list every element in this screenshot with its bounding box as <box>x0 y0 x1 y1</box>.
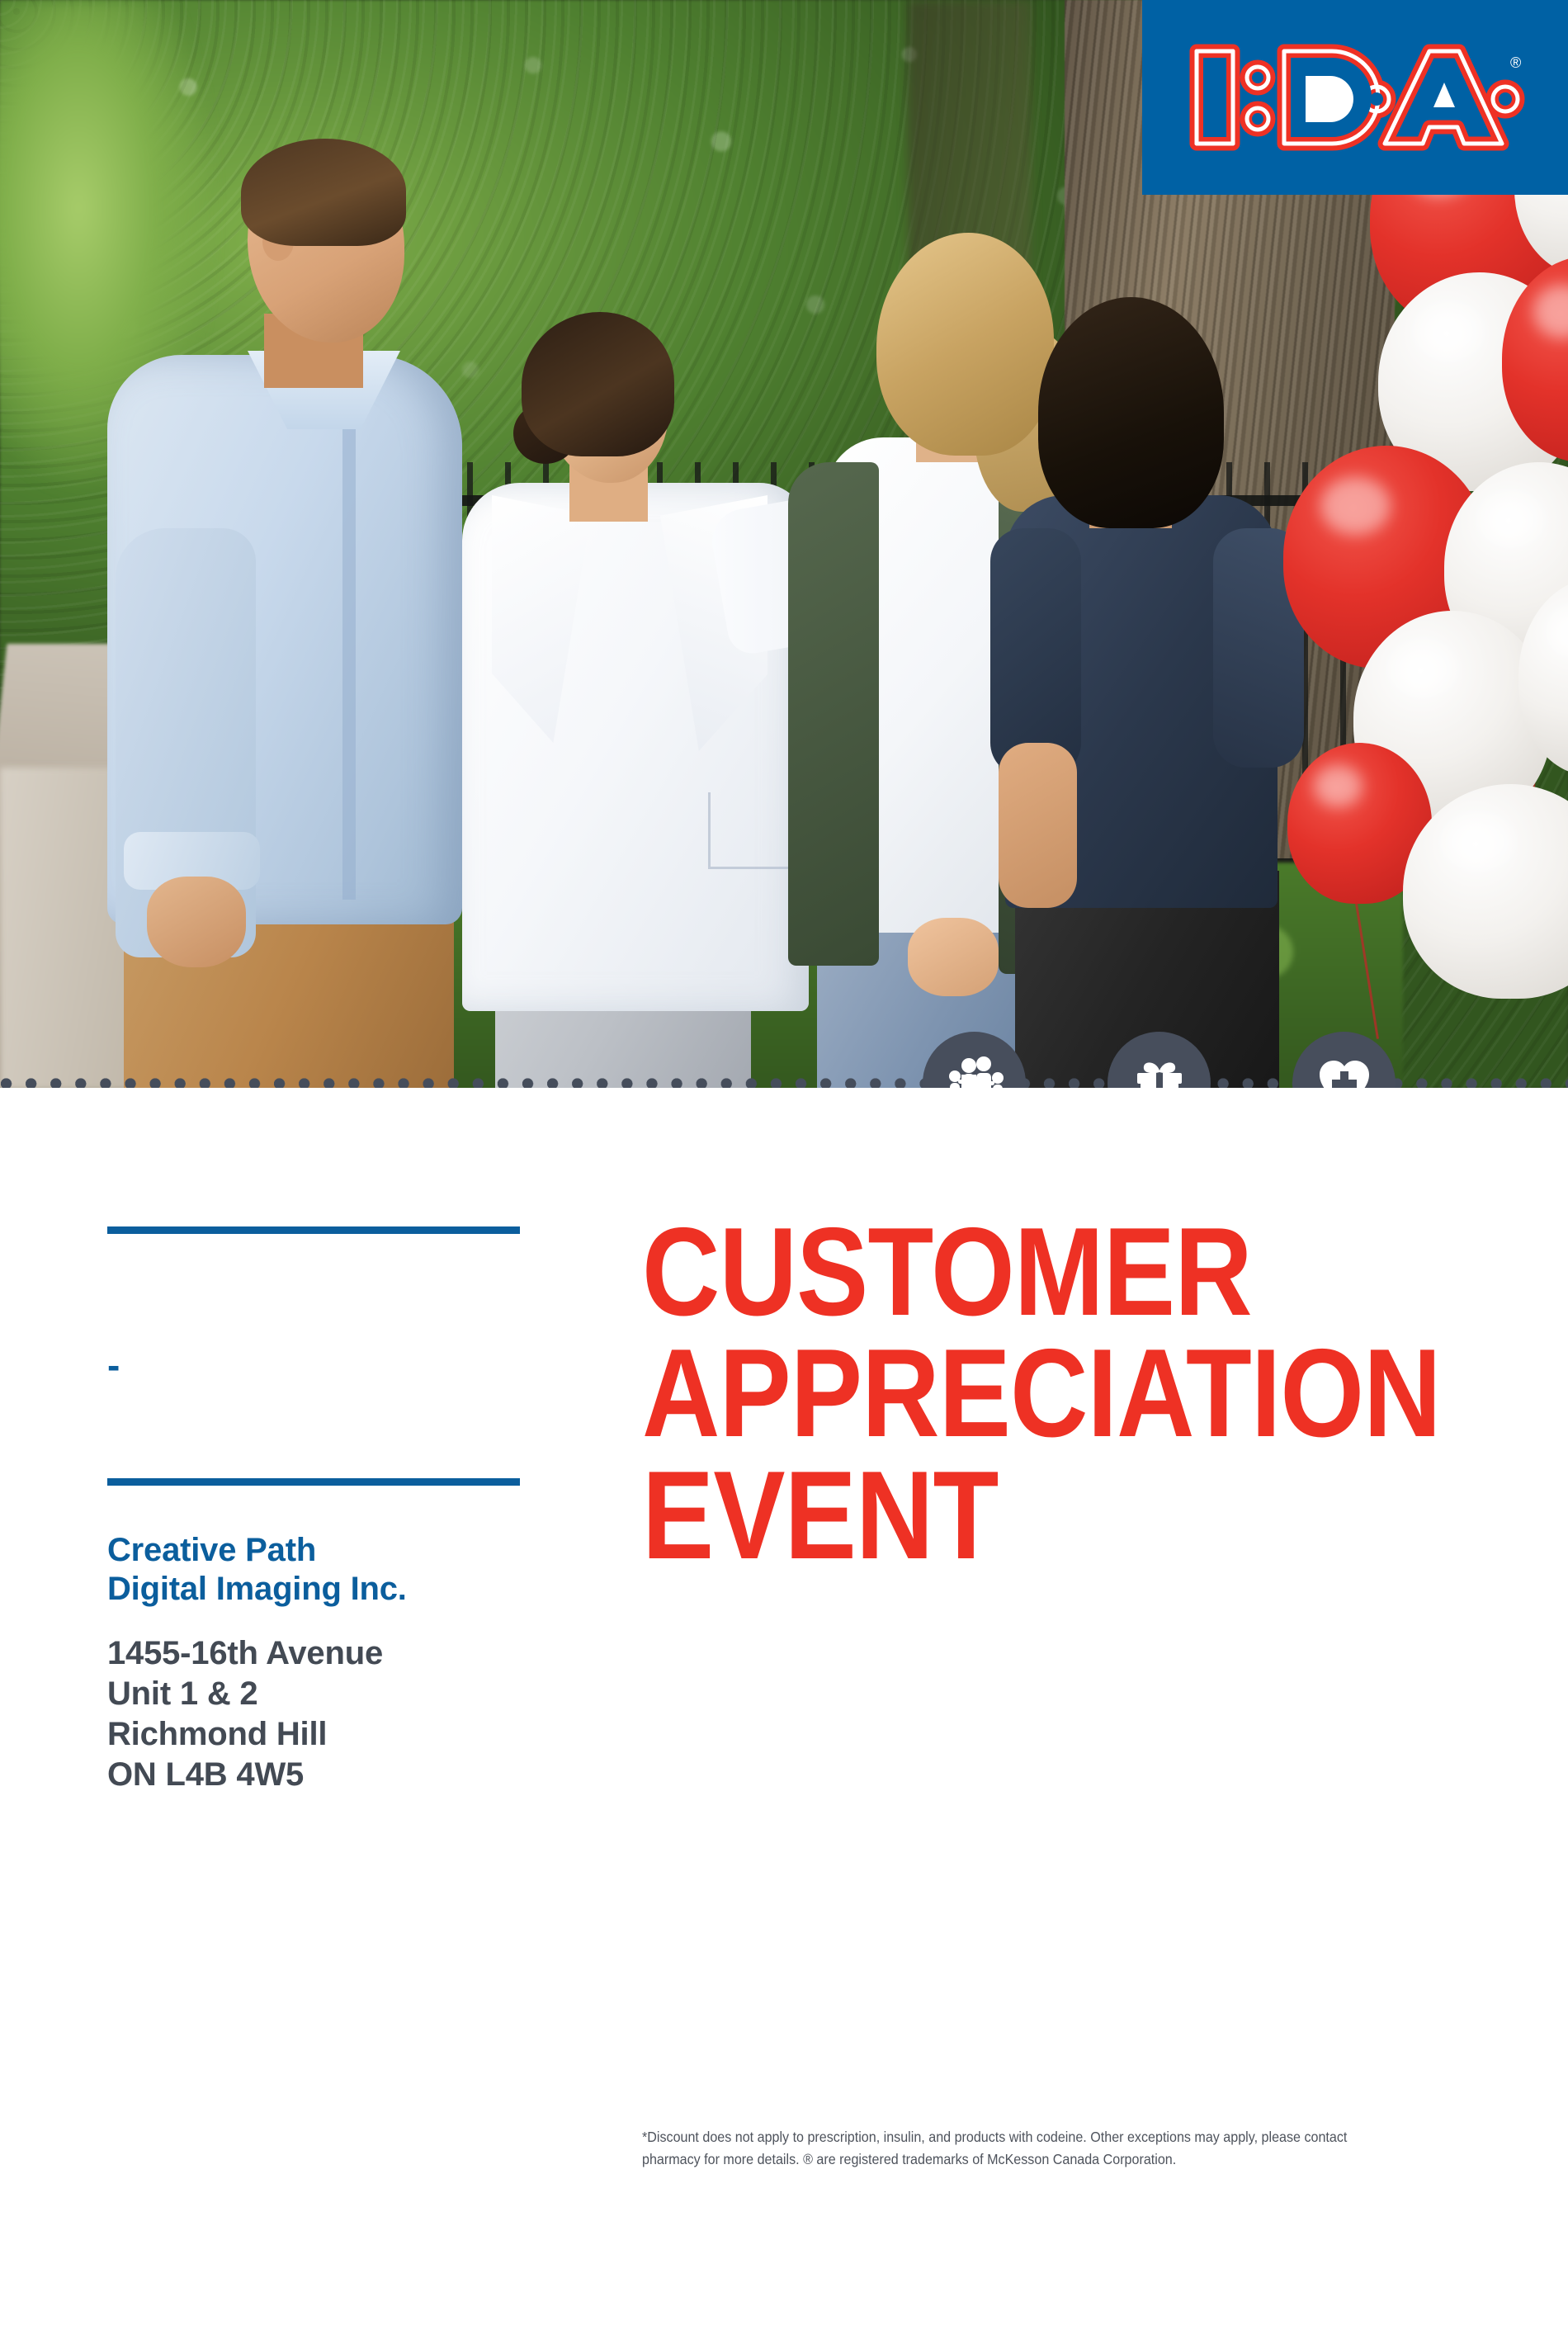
woman-dark-arm-left <box>990 528 1081 776</box>
event-date: - <box>107 1346 120 1384</box>
pharmacist-hair <box>522 312 674 456</box>
registered-mark: ® <box>1510 54 1521 71</box>
woman-dark-forearm <box>999 743 1077 908</box>
store-name: Creative Path Digital Imaging Inc. <box>107 1531 524 1609</box>
woman-blonde-hair <box>876 233 1054 456</box>
content-area: - Creative Path Digital Imaging Inc. 145… <box>0 1088 1568 2330</box>
headline-line-3: EVENT <box>642 1455 1395 1576</box>
woman-blonde-hand <box>908 918 999 996</box>
headline-line-2: APPRECIATION <box>642 1333 1395 1454</box>
page-title: CUSTOMER APPRECIATION EVENT <box>642 1212 1395 1576</box>
ida-logo: ® <box>1142 0 1568 195</box>
store-address: 1455-16th Avenue Unit 1 & 2 Richmond Hil… <box>107 1633 524 1794</box>
man-hand <box>147 877 246 967</box>
address-line-2: Unit 1 & 2 <box>107 1674 524 1714</box>
poster-root: ® <box>0 0 1568 2330</box>
address-line-1: 1455-16th Avenue <box>107 1633 524 1674</box>
headline-line-1: CUSTOMER <box>642 1212 1395 1333</box>
address-line-4: ON L4B 4W5 <box>107 1755 524 1795</box>
ida-logo-mark: ® <box>1182 40 1528 155</box>
man-shirt-placket <box>342 388 356 900</box>
store-name-line1: Creative Path <box>107 1531 524 1570</box>
rule-top <box>107 1226 520 1234</box>
event-details-column: - Creative Path Digital Imaging Inc. 145… <box>107 1226 524 1795</box>
address-line-3: Richmond Hill <box>107 1714 524 1755</box>
rule-bottom <box>107 1478 520 1486</box>
woman-dark-hair <box>1038 297 1224 528</box>
woman-blonde-cardigan-left <box>788 462 879 966</box>
man-hair <box>241 139 406 246</box>
hero-photo: ® <box>0 0 1568 1088</box>
event-date-slot: - <box>107 1234 524 1478</box>
store-name-line2: Digital Imaging Inc. <box>107 1570 524 1609</box>
legal-disclaimer: *Discount does not apply to prescription… <box>642 2126 1401 2171</box>
